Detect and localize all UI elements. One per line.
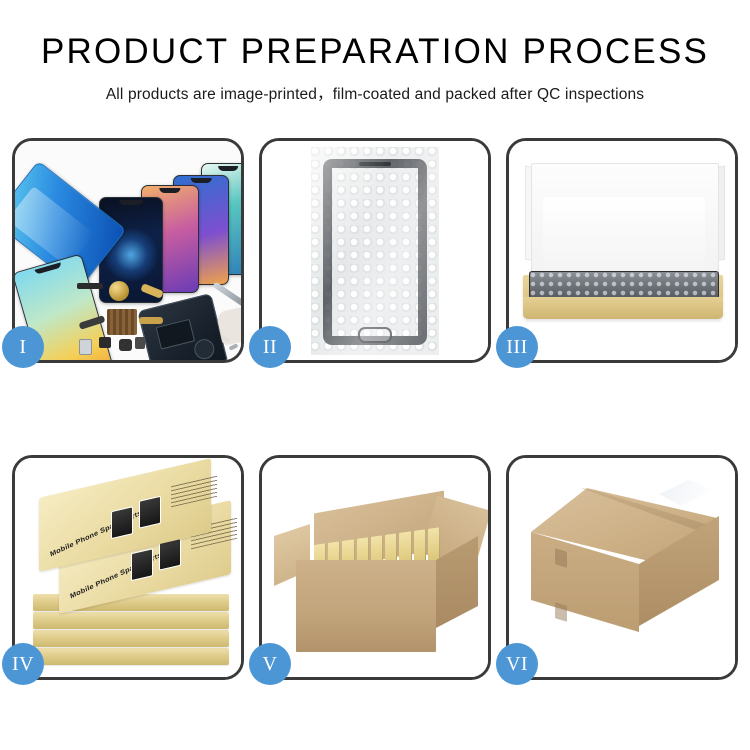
box-spec-lines	[171, 475, 217, 508]
page-subtitle: All products are image-printed，film-coat…	[0, 82, 750, 104]
bubble-wrapped-screen-illustration	[262, 141, 488, 360]
step-panel-2: II	[259, 138, 491, 363]
battery-connector-part	[135, 337, 145, 349]
camera-module-part	[99, 337, 111, 348]
process-steps-grid: I II III	[12, 138, 738, 680]
packing-film	[659, 480, 713, 506]
notch-icon	[119, 200, 143, 205]
step-panel-1: I	[12, 138, 244, 363]
box-stack: Mobile Phone Spare Parts Mobile Phone Sp…	[23, 472, 239, 668]
step-panel-6: VI	[506, 455, 738, 680]
kraft-box-front-edge	[523, 297, 723, 319]
stacked-kraft-boxes-illustration: Mobile Phone Spare Parts Mobile Phone Sp…	[15, 458, 241, 677]
step-badge-5: V	[249, 643, 291, 685]
header: PRODUCT PREPARATION PROCESS All products…	[0, 0, 750, 104]
step-badge-2: II	[249, 326, 291, 368]
open-carton-illustration	[262, 458, 488, 677]
step-image-6	[509, 458, 735, 677]
phone-glass-frame	[323, 159, 427, 345]
step-image-1	[15, 141, 241, 360]
box-screen-image	[139, 496, 161, 529]
step-panel-3: III	[506, 138, 738, 363]
carton-handle-slot	[555, 602, 567, 622]
kraft-box-slab	[33, 612, 229, 629]
notch-icon	[218, 166, 238, 171]
kraft-box-slab	[33, 630, 229, 647]
box-screen-image	[131, 548, 153, 581]
page-title: PRODUCT PREPARATION PROCESS	[0, 34, 750, 71]
foam-insert	[543, 197, 705, 271]
step-image-2	[262, 141, 488, 360]
wrapped-screen-in-tray	[529, 271, 719, 299]
phone-screens-and-parts-illustration	[15, 141, 241, 360]
step-badge-3: III	[496, 326, 538, 368]
sealed-carton-illustration	[509, 458, 735, 677]
step-panel-5: V	[259, 455, 491, 680]
carton-front-panel	[296, 560, 436, 652]
vibrator-part	[119, 339, 132, 351]
step-image-4: Mobile Phone Spare Parts Mobile Phone Sp…	[15, 458, 241, 677]
notch-icon	[159, 188, 180, 193]
step-image-5	[262, 458, 488, 677]
screen-in-open-box-illustration	[509, 141, 735, 360]
notch-icon	[191, 178, 212, 183]
connector-grid-part	[107, 309, 137, 335]
carton-handle-slot	[555, 548, 567, 568]
step-badge-6: VI	[496, 643, 538, 685]
tweezers-tool	[212, 281, 241, 306]
flex-cable-part	[139, 317, 163, 324]
bubble-wrap-sheet	[311, 147, 439, 355]
earpiece-bar-part	[77, 283, 103, 289]
step-badge-4: IV	[2, 643, 44, 685]
notch-icon	[35, 263, 62, 275]
kraft-box-slab	[33, 648, 229, 665]
box-screen-image	[111, 506, 133, 539]
sim-tray-part	[79, 339, 92, 355]
step-image-3	[509, 141, 735, 360]
step-panel-4: Mobile Phone Spare Parts Mobile Phone Sp…	[12, 455, 244, 680]
speaker-coil-part	[109, 281, 129, 301]
step-badge-1: I	[2, 326, 44, 368]
